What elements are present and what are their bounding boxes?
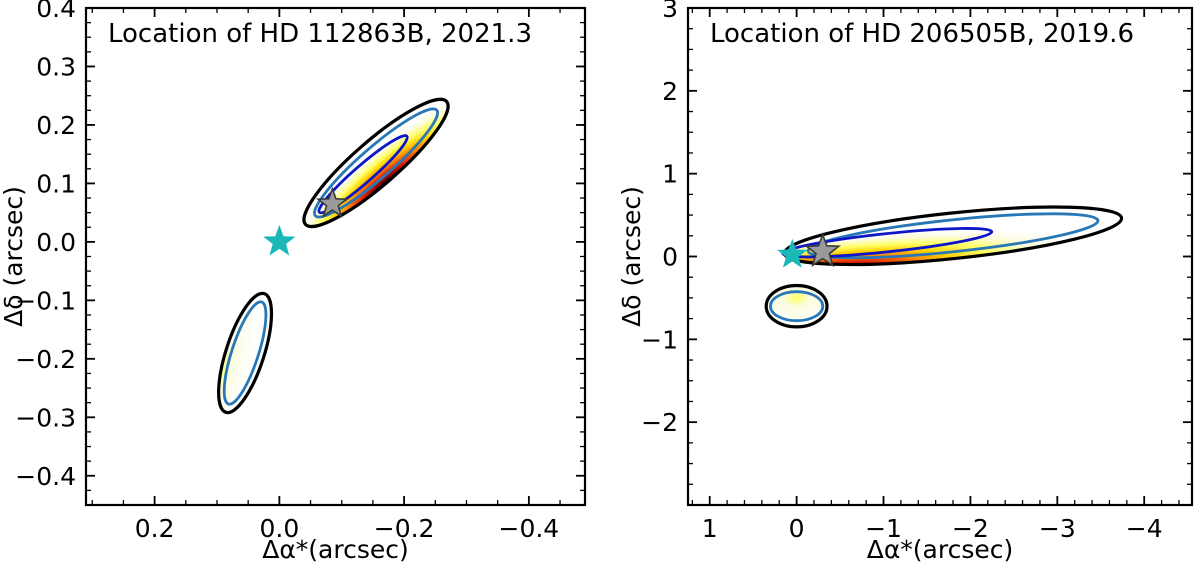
ytick-label: 3 (662, 0, 678, 23)
two-panel-contour-figure: 0.20.0−0.2−0.40.40.30.20.10.0−0.1−0.2−0.… (0, 0, 1200, 570)
ytick-label: 0.1 (36, 169, 76, 198)
xtick-label: 0.2 (135, 514, 175, 543)
ytick-label: 0.0 (36, 228, 76, 257)
xtick-label: −4 (1126, 514, 1163, 543)
ytick-label: −0.3 (15, 403, 76, 432)
ytick-label: 2 (662, 77, 678, 106)
xtick-label: −0.4 (499, 514, 560, 543)
panel-title: Location of HD 112863B, 2021.3 (108, 19, 532, 49)
ytick-label: 1 (662, 160, 678, 189)
ytick-label: 0 (662, 243, 678, 272)
xtick-label: 1 (702, 514, 718, 543)
ytick-label: −0.4 (15, 462, 76, 491)
panel-title: Location of HD 206505B, 2019.6 (710, 19, 1134, 49)
lower-tail-region (766, 285, 827, 326)
figure-canvas: 0.20.0−0.2−0.40.40.30.20.10.0−0.1−0.2−0.… (0, 0, 1200, 570)
ytick-label: −1 (641, 325, 678, 354)
x-axis-label: Δα*(arcsec) (867, 535, 1014, 564)
ytick-label: 0.4 (36, 0, 76, 23)
y-axis-label: Δδ (arcsec) (617, 186, 646, 327)
ytick-label: −2 (641, 408, 678, 437)
y-axis-label: Δδ (arcsec) (0, 186, 28, 327)
xtick-label: 0 (789, 514, 805, 543)
ytick-label: −0.2 (15, 345, 76, 374)
figure-background (0, 0, 1200, 570)
ytick-label: 0.3 (36, 52, 76, 81)
x-axis-label: Δα*(arcsec) (262, 535, 409, 564)
ytick-label: 0.2 (36, 111, 76, 140)
xtick-label: −3 (1039, 514, 1076, 543)
